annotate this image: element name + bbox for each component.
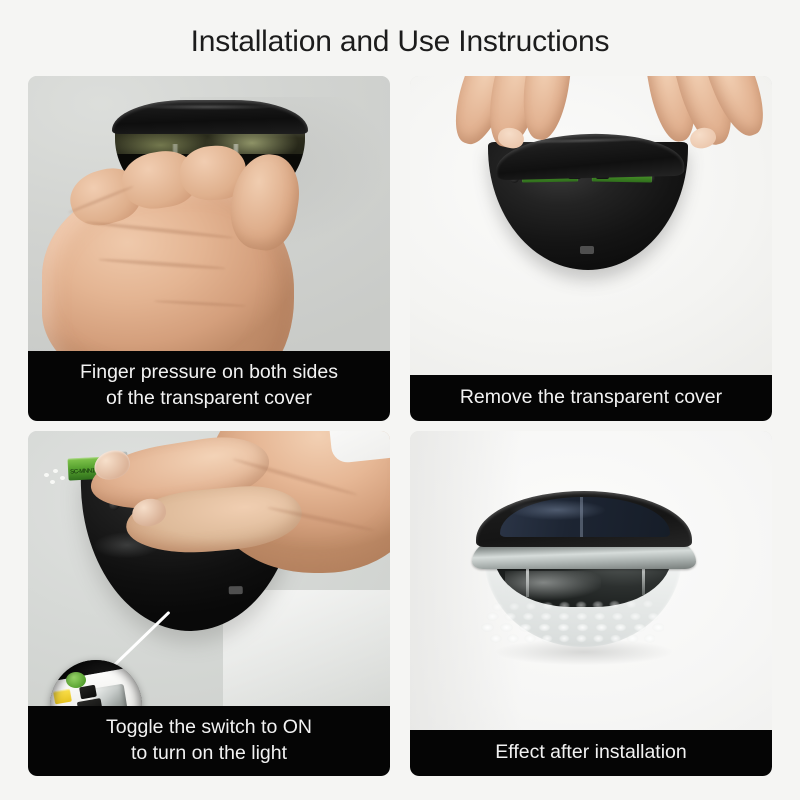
finger (517, 76, 574, 143)
caption-step-3: Toggle the switch to ON to turn on the l… (28, 706, 390, 776)
dust-specks (44, 469, 70, 485)
photo-removing-cover (410, 76, 772, 421)
hand-right (646, 76, 762, 162)
instructions-page: Installation and Use Instructions (0, 0, 800, 800)
caption-line: to turn on the light (34, 740, 384, 766)
page-title: Installation and Use Instructions (0, 25, 800, 59)
instruction-panel-step-2[interactable]: Remove the transparent cover (410, 76, 772, 421)
solar-panel (500, 497, 670, 537)
instruction-panel-step-3[interactable]: SC-MNN1-MD (28, 431, 390, 776)
caption-line: Finger pressure on both sides (34, 359, 384, 385)
caption-step-2: Remove the transparent cover (410, 375, 772, 421)
caption-line: Effect after installation (416, 739, 766, 765)
lamp-top-housing (476, 491, 692, 547)
instruction-steps-grid: Finger pressure on both sides of the tra… (28, 76, 772, 776)
instruction-panel-step-1[interactable]: Finger pressure on both sides of the tra… (28, 76, 390, 421)
caption-line: Toggle the switch to ON (34, 714, 384, 740)
hand-left (458, 76, 568, 158)
caption-step-1: Finger pressure on both sides of the tra… (28, 351, 390, 421)
caption-line: of the transparent cover (34, 385, 384, 411)
caption-step-4: Effect after installation (410, 730, 772, 776)
base-tab (580, 246, 594, 254)
lamp-top-cap (112, 100, 308, 134)
photo-installed-lamp (410, 431, 772, 776)
instruction-panel-step-4[interactable]: Effect after installation (410, 431, 772, 776)
lens-dimple-texture (478, 595, 664, 645)
installed-solar-lamp (472, 491, 694, 649)
caption-line: Remove the transparent cover (416, 384, 766, 410)
hand-pressing-switch (80, 431, 390, 641)
